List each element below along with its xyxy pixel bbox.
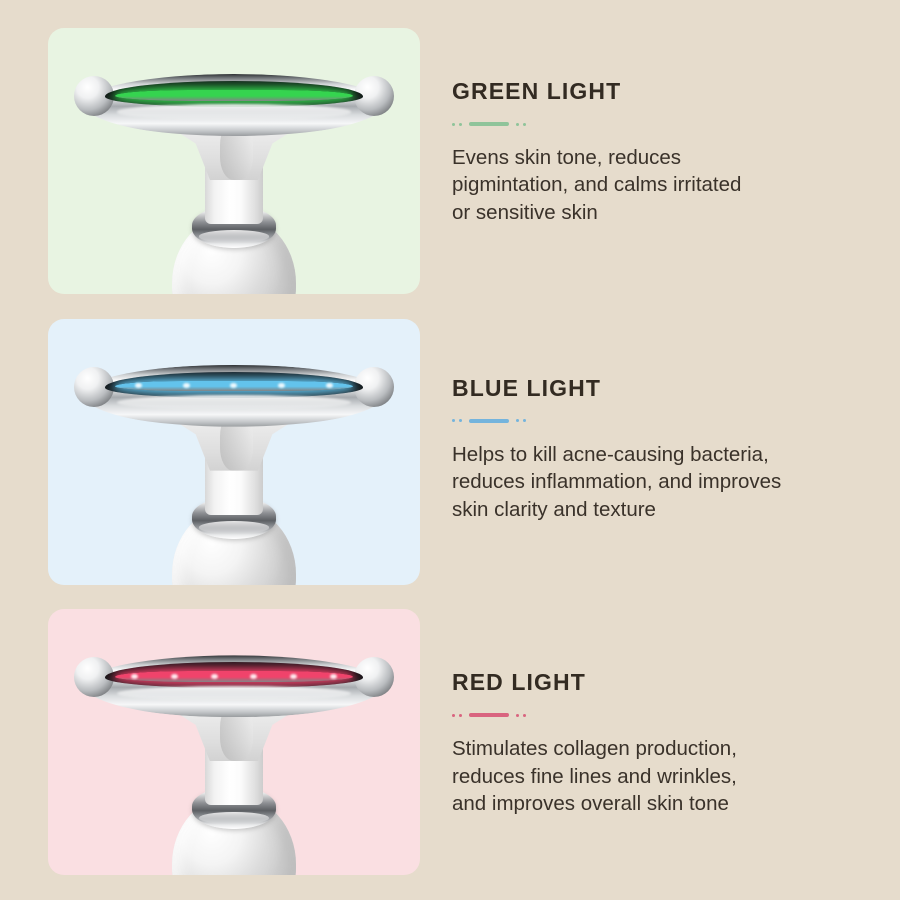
led-dot — [326, 383, 333, 388]
led-dot — [135, 383, 142, 388]
heading-blue-light: BLUE LIGHT — [452, 377, 900, 400]
led-dots-red — [115, 671, 353, 682]
divider-dash — [469, 419, 509, 423]
divider-dot — [523, 714, 526, 717]
device-head — [80, 74, 388, 150]
device-head-highlight — [117, 686, 351, 701]
led-dot — [250, 674, 257, 679]
divider-dash — [469, 713, 509, 717]
divider-dot — [452, 714, 455, 717]
heading-red-light: RED LIGHT — [452, 671, 900, 694]
divider-dot — [459, 714, 462, 717]
device-head — [80, 655, 388, 731]
led-dot — [290, 674, 297, 679]
infographic-page: GREEN LIGHT Evens skin tone, reduces pig… — [0, 0, 900, 900]
divider-dot — [516, 714, 519, 717]
device-head — [80, 365, 388, 441]
product-card-green — [48, 28, 420, 294]
divider-blue — [452, 417, 900, 425]
led-dot — [211, 674, 218, 679]
product-card-red — [48, 609, 420, 875]
led-dot — [230, 383, 237, 388]
divider-dot — [516, 419, 519, 422]
led-neck-device-icon — [48, 319, 420, 585]
led-dots-green — [115, 90, 353, 101]
divider-dot — [523, 123, 526, 126]
divider-red — [452, 711, 900, 719]
divider-green — [452, 120, 900, 128]
heading-green-light: GREEN LIGHT — [452, 80, 900, 103]
led-dot — [330, 674, 337, 679]
divider-dash — [469, 122, 509, 126]
body-text-blue: Helps to kill acne-causing bacteria, red… — [452, 441, 872, 523]
divider-dot — [459, 419, 462, 422]
section-red-light: RED LIGHT Stimulates collagen production… — [0, 609, 900, 878]
led-dot — [278, 383, 285, 388]
device-led-channel — [105, 372, 364, 398]
device-led-channel — [105, 662, 364, 688]
body-text-red: Stimulates collagen production, reduces … — [452, 735, 872, 817]
divider-dot — [452, 419, 455, 422]
text-column-green: GREEN LIGHT Evens skin tone, reduces pig… — [452, 28, 900, 226]
led-dots-blue — [115, 381, 353, 392]
led-neck-device-icon — [48, 28, 420, 294]
led-dot — [131, 674, 138, 679]
device-head-highlight — [117, 104, 351, 119]
text-column-red: RED LIGHT Stimulates collagen production… — [452, 609, 900, 817]
led-dot — [171, 674, 178, 679]
led-neck-device-icon — [48, 609, 420, 875]
device-led-channel — [105, 81, 364, 107]
text-column-blue: BLUE LIGHT Helps to kill acne-causing ba… — [452, 319, 900, 523]
divider-dot — [516, 123, 519, 126]
body-text-green: Evens skin tone, reduces pigmintation, a… — [452, 144, 872, 226]
divider-dot — [452, 123, 455, 126]
divider-dot — [459, 123, 462, 126]
section-blue-light: BLUE LIGHT Helps to kill acne-causing ba… — [0, 319, 900, 588]
divider-dot — [523, 419, 526, 422]
section-green-light: GREEN LIGHT Evens skin tone, reduces pig… — [0, 28, 900, 297]
product-card-blue — [48, 319, 420, 585]
device-head-highlight — [117, 395, 351, 410]
led-dot — [183, 383, 190, 388]
